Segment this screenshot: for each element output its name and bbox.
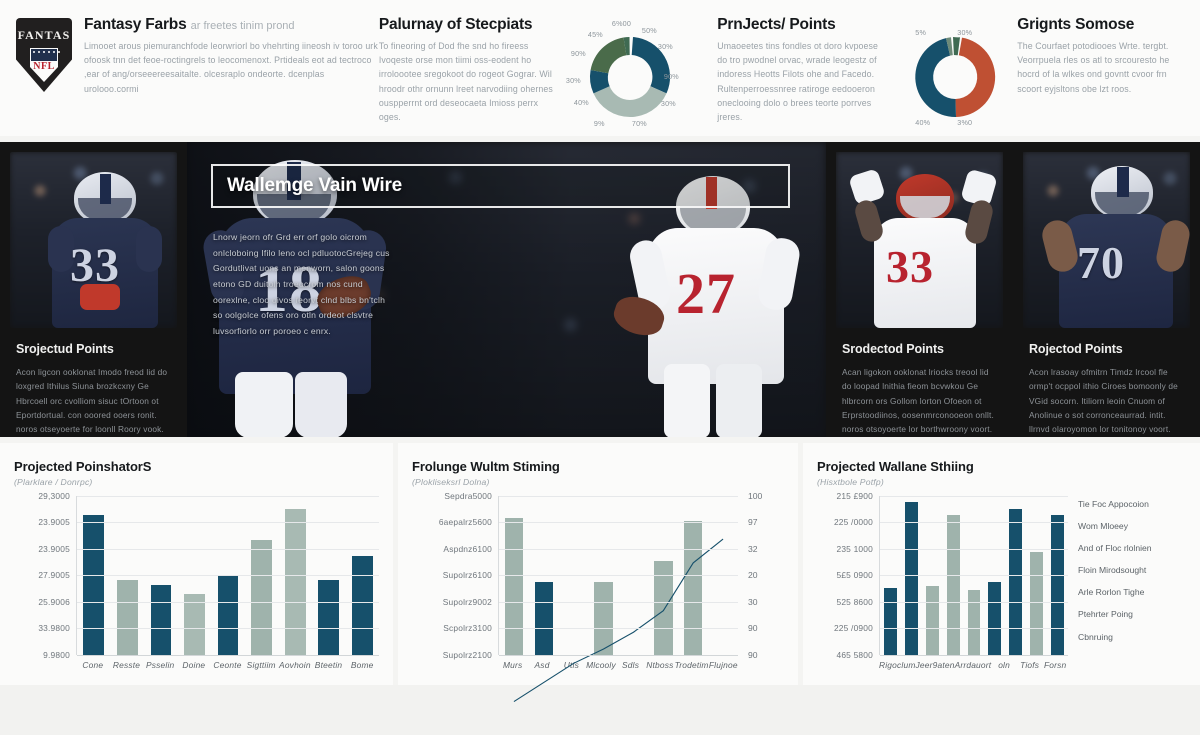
b-ycol-tick-1: 6aepalrz5600 <box>439 517 492 527</box>
bar[interactable] <box>1051 515 1064 655</box>
player-card-right-1[interactable]: 33 Srodectod Points Acan ligokon ooklona… <box>826 142 1013 437</box>
legend-item-1[interactable]: Wom Mloeey <box>1078 522 1186 531</box>
header-body-4: The Courfaet potodiooes Wrte. tergbt. Ve… <box>1017 39 1184 96</box>
a-ycol-tick-5: 33.9800 <box>38 623 70 633</box>
donut1-label-6: 90% <box>664 72 679 81</box>
b-grid-line-1 <box>499 522 738 523</box>
a-grid-line-1 <box>77 522 379 523</box>
header-col-projects: PrnJects/ Points Umaoeetes tins fondles … <box>717 14 1017 138</box>
chart-a-title: Projected PoinshatorS <box>14 459 379 474</box>
bar[interactable] <box>151 585 172 655</box>
chart-b-right-tick-0: 100 <box>748 491 762 501</box>
donut2-label-1: 30% <box>957 28 972 37</box>
chart-b-right-tick-4: 30 <box>748 597 758 607</box>
chart-b-trend-line <box>499 496 738 735</box>
bar[interactable] <box>1009 509 1022 655</box>
player-photo-right-2: 70 <box>1023 152 1190 328</box>
player-card-left-body: Acon ligcon ooklonat Imodo freod lid do … <box>16 365 171 436</box>
bar[interactable] <box>318 580 339 655</box>
c-xlabs-label-5: Forsn <box>1042 660 1068 670</box>
a-ycol-tick-0: 29,3000 <box>38 491 70 501</box>
a-xlabs-label-1: Resste <box>110 660 144 670</box>
bar[interactable] <box>83 515 104 655</box>
shield-inner-text: NFL <box>31 61 57 72</box>
chart-card-frolunge-wultm[interactable]: Frolunge Wultm Stiming (Plokliseksrl Dol… <box>398 443 798 685</box>
hero-title-box: Wallemge Vain Wire <box>211 164 790 208</box>
chart-b-right-tick-2: 32 <box>748 544 758 554</box>
hero-feature-panel[interactable]: 18 27 Wallemge Vain Wire L <box>187 142 826 437</box>
bar[interactable] <box>352 556 373 654</box>
c-ycol-tick-5: 225 /0900 <box>834 623 873 633</box>
c-grid-line-6 <box>880 655 1068 656</box>
player-card-right-2[interactable]: 70 Rojectod Points Acon lrasoay ofmitrn … <box>1013 142 1200 437</box>
b-ycol-tick-3: Supolrz6100 <box>443 570 492 580</box>
header-title-4: Grignts Somose <box>1017 16 1184 34</box>
a-ycol-tick-3: 27.9005 <box>38 570 70 580</box>
chart-a-subtitle: (Plarklare / Donrpc) <box>14 477 379 487</box>
a-grid-line-5 <box>77 628 379 629</box>
b-grid-line-6 <box>499 655 738 656</box>
bar[interactable] <box>1030 552 1043 655</box>
chart-c-legend: Tie Foc AppocoionWom MloeeyAnd of Floc r… <box>1068 496 1186 655</box>
bar[interactable] <box>926 586 939 654</box>
donut1-label-2: 50% <box>642 26 657 35</box>
chart-b-right-tick-6: 90 <box>748 650 758 660</box>
c-xlabs-label-2: Arrdauort <box>955 660 992 670</box>
chart-b-right-tick-5: 90 <box>748 623 758 633</box>
bar[interactable] <box>218 575 239 654</box>
player-card-left-heading: Srojectud Points <box>16 342 187 356</box>
c-grid-line-2 <box>880 549 1068 550</box>
chart-c-subtitle: (Hisxtbole Potfp) <box>817 477 1186 487</box>
bar[interactable] <box>988 582 1001 655</box>
header-title-1-main: Fantasy Farbs <box>84 16 187 33</box>
a-xlabs-label-0: Cone <box>76 660 110 670</box>
a-xlabs-label-4: Ceonte <box>211 660 245 670</box>
a-xlabs-label-7: Bteetin <box>312 660 346 670</box>
c-xlabs-label-3: oln <box>991 660 1017 670</box>
donut1-label-1: 45% <box>588 30 603 39</box>
bar[interactable] <box>285 509 306 655</box>
c-ycol-tick-2: 235 1000 <box>836 544 873 554</box>
b-ycol-tick-0: Sepdra5000 <box>444 491 492 501</box>
b-grid-line-2 <box>499 549 738 550</box>
b-grid-line-0 <box>499 496 738 497</box>
donut1-label-7: 40% <box>574 98 589 107</box>
donut1-label-3: 90% <box>571 49 586 58</box>
legend-item-3[interactable]: Floin Mirodsought <box>1078 566 1186 575</box>
c-grid-line-5 <box>880 628 1068 629</box>
a-grid-line-4 <box>77 602 379 603</box>
a-xlabs-label-8: Bome <box>345 660 379 670</box>
header-col-summary: Palurnay of Stecpiats To fineoring of Do… <box>379 14 717 138</box>
chart-b-title: Frolunge Wultm Stiming <box>412 459 784 474</box>
c-grid-line-4 <box>880 602 1068 603</box>
bar[interactable] <box>117 580 138 655</box>
bar[interactable] <box>184 594 205 654</box>
charts-row: Projected PoinshatorS (Plarklare / Donrp… <box>0 443 1200 685</box>
b-ycol-tick-6: Supolrz2100 <box>443 650 492 660</box>
chart-a-grid <box>76 496 379 655</box>
hero-body: Lnorw jeorn ofr Grd err orf golo oicrom … <box>213 230 393 339</box>
chart-b-y-axis-left: Sepdra50006aepalrz5600Aspdnz6100Supolrz6… <box>412 496 498 655</box>
chart-c-grid <box>879 496 1068 655</box>
chart-b-grid <box>498 496 738 655</box>
c-ycol-tick-4: 525 8600 <box>836 597 873 607</box>
shield-wordmark: FANTAS <box>16 28 72 43</box>
c-ycol-tick-0: 215 £900 <box>836 491 873 501</box>
a-grid-line-3 <box>77 575 379 576</box>
a-ycol-tick-1: 23.9005 <box>38 517 70 527</box>
chart-c-title: Projected Wallane Sthiing <box>817 459 1186 474</box>
trend-polyline <box>514 539 723 702</box>
a-xlabs-label-6: Aovhoin <box>278 660 312 670</box>
c-ycol-tick-6: 465 5800 <box>836 650 873 660</box>
player-card-right-1-heading: Srodectod Points <box>842 342 1013 356</box>
chart-a-y-axis: 29,300023.900523.900527.900525.900633.98… <box>14 496 76 655</box>
donut1-label-10: 70% <box>632 119 647 128</box>
player-photo-left: 33 <box>10 152 177 328</box>
a-grid-line-6 <box>77 655 379 656</box>
c-ycol-tick-3: 5£5 0900 <box>836 570 873 580</box>
donut-chart-1: 6%00 45% 50% 90% 30% 30% 90% 40% 30% 9% … <box>566 16 694 138</box>
header-band: FANTAS NFL Fantasy Farbs ar freetes tini… <box>0 0 1200 136</box>
b-ycol-tick-2: Aspdnz6100 <box>443 544 492 554</box>
jersey-number-right-2: 70 <box>1077 236 1125 289</box>
chart-c-plot: 215 £900225 /0000235 10005£5 0900525 860… <box>817 496 1186 655</box>
c-grid-line-1 <box>880 522 1068 523</box>
bar[interactable] <box>884 588 897 655</box>
donut2-label-0: 5% <box>915 28 926 37</box>
donut1-label-9: 9% <box>594 119 605 128</box>
legend-item-2[interactable]: And of Floc rlolnien <box>1078 544 1186 553</box>
header-col-origins: Grignts Somose The Courfaet potodiooes W… <box>1017 14 1184 96</box>
donut2-label-2: 40% <box>915 118 930 127</box>
c-xlabs-label-0: Rigoclum <box>879 660 916 670</box>
chart-card-projected-points[interactable]: Projected PoinshatorS (Plarklare / Donrp… <box>0 443 393 685</box>
header-col-brand: FANTAS NFL Fantasy Farbs ar freetes tini… <box>16 14 379 96</box>
b-grid-line-4 <box>499 602 738 603</box>
c-xlabs-label-1: Jeer9aten <box>916 660 955 670</box>
header-title-1-sub: ar freetes tinim prond <box>191 20 295 32</box>
a-grid-line-0 <box>77 496 379 497</box>
legend-item-5[interactable]: Ptehrter Poing <box>1078 610 1186 619</box>
a-xlabs-label-3: Doine <box>177 660 211 670</box>
player-card-left[interactable]: 33 Srojectud Points Acon ligcon ooklonat… <box>0 142 187 437</box>
bar[interactable] <box>251 540 272 654</box>
infographic-page: FANTAS NFL Fantasy Farbs ar freetes tini… <box>0 0 1200 654</box>
chart-a-plot: 29,300023.900523.900527.900525.900633.98… <box>14 496 379 655</box>
a-grid-line-2 <box>77 549 379 550</box>
a-ycol-tick-6: 9.9800 <box>43 650 70 660</box>
a-xlabs-label-5: Sigttiim <box>244 660 278 670</box>
header-title-2: Palurnay of Stecpiats <box>379 16 554 34</box>
chart-card-projected-wallane[interactable]: Projected Wallane Sthiing (Hisxtbole Pot… <box>803 443 1200 685</box>
legend-item-6[interactable]: Cbnruing <box>1078 633 1186 642</box>
chart-b-subtitle: (Plokliseksrl Dolna) <box>412 477 784 487</box>
c-grid-line-0 <box>880 496 1068 497</box>
donut1-label-8: 30% <box>661 99 676 108</box>
b-grid-line-5 <box>499 628 738 629</box>
a-ycol-tick-2: 23.9005 <box>38 544 70 554</box>
hero-band: 33 Srojectud Points Acon ligcon ooklonat… <box>0 136 1200 443</box>
b-ycol-tick-4: Supolrz9002 <box>443 597 492 607</box>
header-body-1: Limooet arous piemuranchfode leorwriorl … <box>84 39 379 96</box>
legend-item-4[interactable]: Arle Rorlon Tighe <box>1078 588 1186 597</box>
chart-b-right-tick-1: 97 <box>748 517 758 527</box>
header-title-1: Fantasy Farbs ar freetes tinim prond <box>84 16 379 34</box>
c-xlabs-label-4: Tiofs <box>1017 660 1043 670</box>
chart-b-right-tick-3: 20 <box>748 570 758 580</box>
bar[interactable] <box>947 515 960 655</box>
chart-b-plot: Sepdra50006aepalrz5600Aspdnz6100Supolrz6… <box>412 496 784 655</box>
jersey-number-right-1: 33 <box>886 240 934 293</box>
donut-chart-2: 5% 30% 40% 3%0 <box>897 16 1017 138</box>
header-title-3: PrnJects/ Points <box>717 16 885 34</box>
chart-c-y-axis: 215 £900225 /0000235 10005£5 0900525 860… <box>817 496 879 655</box>
player-photo-right-1: 33 <box>836 152 1003 328</box>
player-card-right-2-heading: Rojectod Points <box>1029 342 1200 356</box>
donut1-label-5: 30% <box>566 76 581 85</box>
player-card-right-1-body: Acan ligokon ooklonat lriocks treool lid… <box>842 365 997 436</box>
c-ycol-tick-1: 225 /0000 <box>834 517 873 527</box>
donut1-label-0: 6%00 <box>612 19 631 28</box>
hero-player-white: 27 <box>628 176 804 437</box>
donut2-label-3: 3%0 <box>957 118 972 127</box>
jersey-number-hero-white: 27 <box>676 260 736 327</box>
bar[interactable] <box>905 502 918 654</box>
header-body-2: To fineoring of Dod fhe snd ho fireess I… <box>379 39 554 125</box>
chart-b-y-axis-right: 100973220309090 <box>738 496 784 655</box>
a-xlabs-label-2: Psselin <box>143 660 177 670</box>
bar[interactable] <box>968 590 981 655</box>
legend-item-0[interactable]: Tie Foc Appocoion <box>1078 500 1186 509</box>
hero-title: Wallemge Vain Wire <box>227 175 402 196</box>
b-ycol-tick-5: Scpolrz3100 <box>443 623 492 633</box>
a-ycol-tick-4: 25.9006 <box>38 597 70 607</box>
donut1-label-4: 30% <box>658 42 673 51</box>
b-grid-line-3 <box>499 575 738 576</box>
nfl-shield-logo-icon: FANTAS NFL <box>16 18 72 92</box>
c-grid-line-3 <box>880 575 1068 576</box>
player-card-right-2-body: Acon lrasoay ofmitrn Timdz lrcool fle or… <box>1029 365 1184 436</box>
header-body-3: Umaoeetes tins fondles ot doro kvpoese d… <box>717 39 885 125</box>
